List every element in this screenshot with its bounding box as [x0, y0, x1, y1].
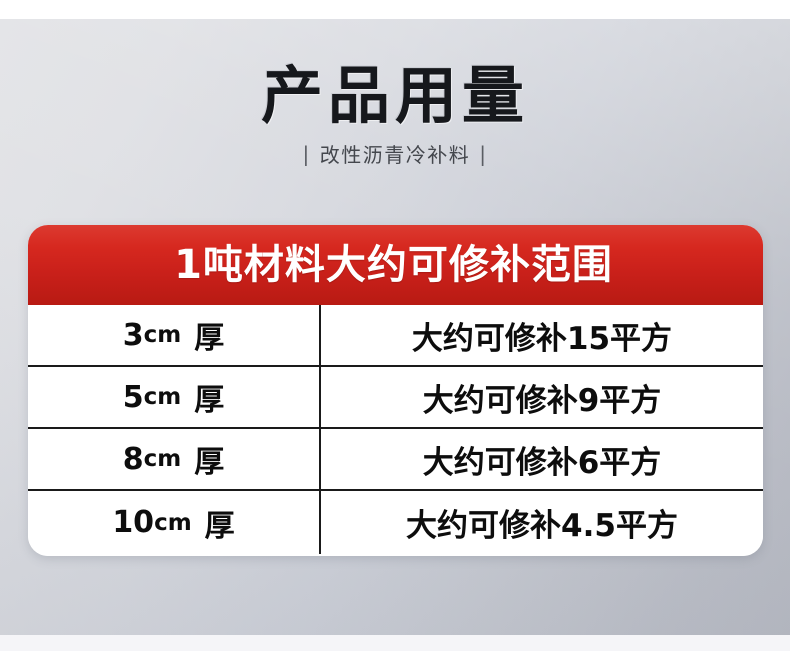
thickness-unit: cm: [144, 446, 182, 472]
table-row: 5cm厚 大约可修补9平方: [28, 367, 763, 429]
page-subtitle: |改性沥青冷补料|: [0, 142, 790, 168]
subtitle-text: 改性沥青冷补料: [320, 143, 471, 167]
thickness-unit: cm: [154, 510, 192, 536]
table-row: 3cm厚 大约可修补15平方: [28, 305, 763, 367]
cell-thickness: 5cm厚: [28, 367, 321, 427]
coverage-table-banner: 1吨材料大约可修补范围: [28, 225, 763, 305]
heading-block: 产品用量 |改性沥青冷补料|: [0, 62, 790, 168]
product-usage-infographic: 产品用量 |改性沥青冷补料| 1吨材料大约可修补范围 3cm厚 大约可修补15平…: [0, 0, 790, 651]
thickness-value: 5: [123, 380, 144, 415]
bottom-white-band: [0, 635, 790, 651]
thickness-value: 8: [123, 442, 144, 477]
thickness-value: 3: [123, 318, 144, 353]
page-title: 产品用量: [0, 62, 790, 130]
top-white-band: [0, 0, 790, 19]
thickness-value: 10: [112, 505, 154, 540]
coverage-table-card: 1吨材料大约可修补范围 3cm厚 大约可修补15平方 5cm厚 大约可修补9平方…: [28, 225, 763, 556]
cell-thickness: 3cm厚: [28, 305, 321, 365]
thickness-unit: cm: [144, 322, 182, 348]
cell-thickness: 10cm厚: [28, 491, 321, 554]
cell-coverage: 大约可修补6平方: [321, 429, 763, 489]
table-row: 10cm厚 大约可修补4.5平方: [28, 491, 763, 554]
cell-thickness: 8cm厚: [28, 429, 321, 489]
thickness-unit: cm: [144, 384, 182, 410]
cell-coverage: 大约可修补4.5平方: [321, 491, 763, 554]
table-row: 8cm厚 大约可修补6平方: [28, 429, 763, 491]
cell-coverage: 大约可修补9平方: [321, 367, 763, 427]
thickness-word: 厚: [194, 437, 224, 481]
subtitle-rule-left-icon: |: [294, 141, 320, 167]
coverage-table: 3cm厚 大约可修补15平方 5cm厚 大约可修补9平方 8cm厚 大约可修补6…: [28, 305, 763, 556]
subtitle-rule-right-icon: |: [470, 141, 496, 167]
thickness-word: 厚: [194, 375, 224, 419]
thickness-word: 厚: [194, 313, 224, 357]
thickness-word: 厚: [205, 501, 235, 545]
cell-coverage: 大约可修补15平方: [321, 305, 763, 365]
coverage-table-banner-title: 1吨材料大约可修补范围: [174, 242, 613, 288]
